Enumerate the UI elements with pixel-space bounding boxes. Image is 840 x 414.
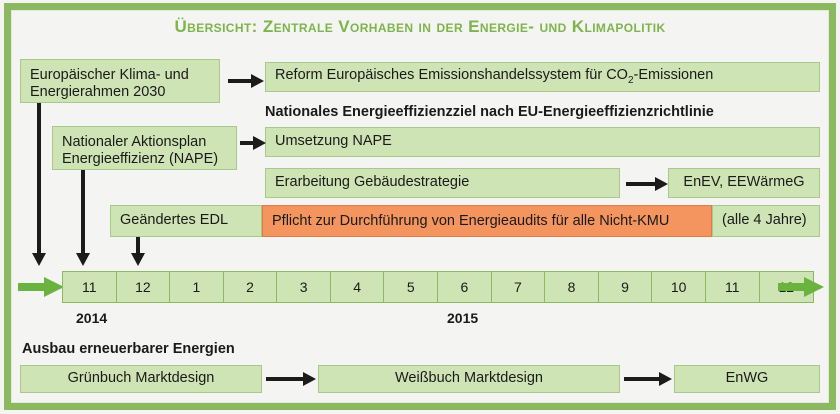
timeline-cell[interactable]: 11 — [706, 272, 760, 302]
timeline-cell[interactable]: 8 — [545, 272, 599, 302]
timeline-bar: 11 12 1 2 3 4 5 6 7 8 9 10 11 12 — [62, 271, 814, 303]
box-building-strategy[interactable]: Erarbeitung Gebäudestrategie — [265, 168, 620, 198]
arrow-framework-to-timeline — [32, 103, 46, 266]
box-green-paper-market-design[interactable]: Grünbuch Marktdesign — [20, 365, 262, 393]
box-ets-reform[interactable]: Reform Europäisches Emissionshandelssyst… — [265, 62, 820, 92]
box-green-paper-label: Grünbuch Marktdesign — [68, 370, 215, 387]
timeline-cell[interactable]: 12 — [117, 272, 171, 302]
box-enwg[interactable]: EnWG — [674, 365, 820, 393]
box-white-paper-label: Weißbuch Marktdesign — [395, 370, 543, 387]
box-ets-reform-label: Reform Europäisches Emissionshandelssyst… — [275, 67, 713, 87]
box-nape-implementation-label: Umsetzung NAPE — [275, 133, 392, 150]
box-national-action-plan-line2: Energieeffizienz (NAPE) — [62, 151, 236, 168]
year-label-2015: 2015 — [447, 310, 478, 326]
arrow-white-paper-to-enwg — [624, 372, 672, 386]
timeline-cell[interactable]: 4 — [331, 272, 385, 302]
timeline-cell[interactable]: 1 — [170, 272, 224, 302]
timeline-cell[interactable]: 3 — [277, 272, 331, 302]
timeline-start-arrow — [18, 276, 64, 298]
box-national-action-plan[interactable]: Nationaler Aktionsplan Energieeffizienz … — [52, 126, 237, 170]
timeline-cell[interactable]: 5 — [384, 272, 438, 302]
arrow-green-to-white-paper — [266, 372, 316, 386]
label-renewables-expansion: Ausbau erneuerbarer Energien — [22, 341, 235, 357]
box-white-paper-market-design[interactable]: Weißbuch Marktdesign — [318, 365, 620, 393]
timeline-cell[interactable]: 7 — [492, 272, 546, 302]
arrow-framework-to-ets — [228, 74, 264, 88]
box-nape-implementation[interactable]: Umsetzung NAPE — [265, 127, 820, 157]
timeline-end-arrow — [778, 276, 824, 298]
box-enev-eewaermeg-label: EnEV, EEWärmeG — [683, 174, 804, 191]
box-building-strategy-label: Erarbeitung Gebäudestrategie — [275, 174, 469, 191]
box-energy-audit-obligation-label: Pflicht zur Durchführung von Energieaudi… — [272, 213, 669, 229]
box-audit-interval-label: (alle 4 Jahre) — [722, 212, 807, 229]
timeline-cell[interactable]: 9 — [599, 272, 653, 302]
box-enev-eewaermeg[interactable]: EnEV, EEWärmeG — [668, 168, 820, 198]
arrow-nape-to-implementation — [240, 136, 266, 150]
box-national-action-plan-line1: Nationaler Aktionsplan — [62, 134, 236, 151]
box-eu-climate-framework-line1: Europäischer Klima- und — [30, 67, 219, 84]
timeline-cell[interactable]: 2 — [224, 272, 278, 302]
box-energy-audit-obligation[interactable]: Pflicht zur Durchführung von Energieaudi… — [262, 205, 712, 237]
box-audit-interval[interactable]: (alle 4 Jahre) — [712, 205, 820, 237]
box-geaendertes-edl-label: Geändertes EDL — [120, 212, 228, 229]
box-geaendertes-edl[interactable]: Geändertes EDL — [110, 205, 262, 237]
page-title: Übersicht: Zentrale Vorhaben in der Ener… — [0, 17, 840, 37]
timeline-cell[interactable]: 10 — [652, 272, 706, 302]
label-efficiency-target: Nationales Energieeffizienzziel nach EU-… — [265, 104, 714, 120]
year-label-2014: 2014 — [76, 310, 107, 326]
timeline-cell[interactable]: 11 — [63, 272, 117, 302]
arrow-edl-to-timeline — [131, 237, 145, 266]
box-enwg-label: EnWG — [726, 370, 769, 387]
timeline-cell[interactable]: 6 — [438, 272, 492, 302]
arrow-nape-to-timeline — [76, 170, 90, 266]
infographic-canvas: Übersicht: Zentrale Vorhaben in der Ener… — [0, 0, 840, 414]
box-eu-climate-framework-line2: Energierahmen 2030 — [30, 84, 219, 101]
arrow-building-strategy-to-enev — [626, 177, 668, 191]
box-eu-climate-framework[interactable]: Europäischer Klima- und Energierahmen 20… — [20, 59, 220, 103]
